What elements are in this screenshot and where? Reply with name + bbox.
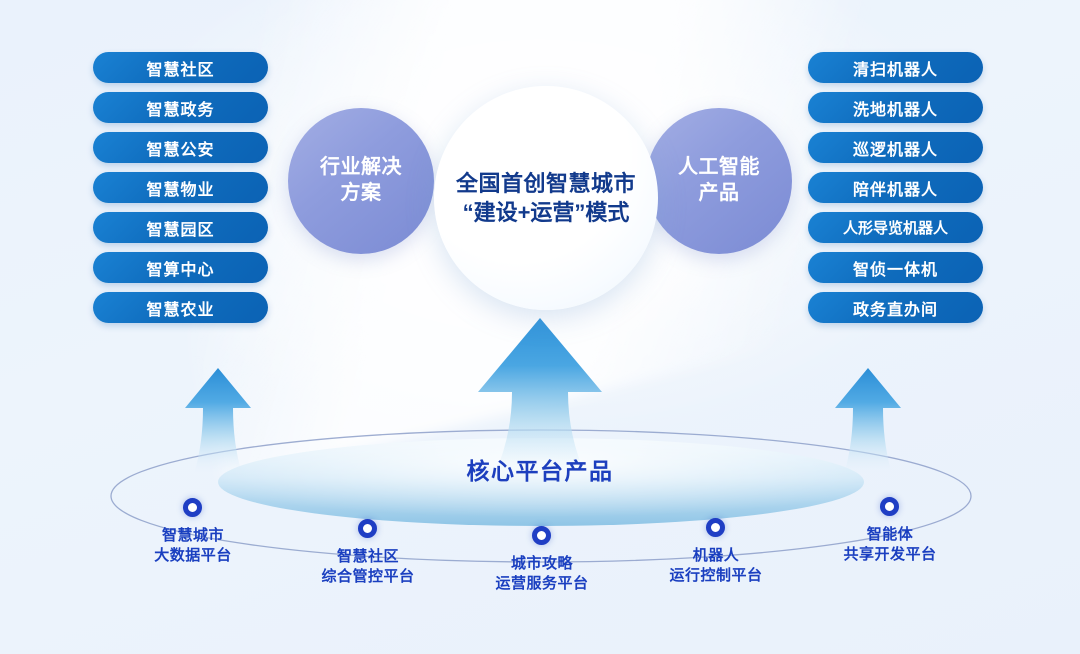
circle-ai-products[interactable]: 人工智能 产品 — [646, 108, 792, 254]
platform-label-3-line1: 城市攻略 — [495, 554, 588, 574]
pill-label: 智慧物业 — [146, 176, 214, 200]
platform-label-4-line1: 机器人 — [669, 546, 762, 566]
platform-node-4[interactable] — [706, 518, 725, 537]
pill-label: 清扫机器人 — [853, 56, 938, 80]
circle-left-line1: 行业解决 — [320, 155, 402, 181]
circle-right-line1: 人工智能 — [678, 155, 760, 181]
pill-left-2[interactable]: 智慧政务 — [93, 92, 268, 123]
pill-right-7[interactable]: 政务直办间 — [808, 292, 983, 323]
pill-left-1[interactable]: 智慧社区 — [93, 52, 268, 83]
pill-label: 智算中心 — [146, 256, 214, 280]
platform-label-1-line1: 智慧城市 — [154, 526, 232, 546]
platform-label-1: 智慧城市 大数据平台 — [154, 526, 232, 567]
platform-node-2[interactable] — [358, 519, 377, 538]
circle-center-line1: 全国首创智慧城市 — [456, 169, 636, 198]
pill-label: 智慧园区 — [146, 216, 214, 240]
pill-label: 巡逻机器人 — [853, 136, 938, 160]
platform-node-5[interactable] — [880, 497, 899, 516]
left-pill-column: 智慧社区 智慧政务 智慧公安 智慧物业 智慧园区 智算中心 智慧农业 — [93, 52, 268, 323]
pill-left-6[interactable]: 智算中心 — [93, 252, 268, 283]
circle-left-line2: 方案 — [341, 181, 382, 207]
pill-left-4[interactable]: 智慧物业 — [93, 172, 268, 203]
pill-right-6[interactable]: 智侦一体机 — [808, 252, 983, 283]
platform-label-5-line2: 共享开发平台 — [843, 545, 936, 565]
platform-label-2-line2: 综合管控平台 — [321, 567, 414, 587]
pill-right-2[interactable]: 洗地机器人 — [808, 92, 983, 123]
platform-node-1[interactable] — [183, 498, 202, 517]
platform-node-3[interactable] — [532, 526, 551, 545]
pill-label: 智慧农业 — [146, 296, 214, 320]
circle-industry-solutions[interactable]: 行业解决 方案 — [288, 108, 434, 254]
platform-label-5: 智能体 共享开发平台 — [843, 525, 936, 566]
platform-label-2: 智慧社区 综合管控平台 — [321, 547, 414, 588]
pill-right-1[interactable]: 清扫机器人 — [808, 52, 983, 83]
pill-label: 智慧政务 — [146, 96, 214, 120]
core-platform-title: 核心平台产品 — [0, 452, 1080, 486]
circle-right-line2: 产品 — [699, 181, 740, 207]
pill-right-3[interactable]: 巡逻机器人 — [808, 132, 983, 163]
platform-label-1-line2: 大数据平台 — [154, 546, 232, 566]
pill-left-5[interactable]: 智慧园区 — [93, 212, 268, 243]
platform-label-3-line2: 运营服务平台 — [495, 574, 588, 594]
pill-label: 智慧社区 — [146, 56, 214, 80]
pill-left-3[interactable]: 智慧公安 — [93, 132, 268, 163]
pill-label: 人形导览机器人 — [843, 217, 948, 238]
platform-label-5-line1: 智能体 — [843, 525, 936, 545]
platform-label-4-line2: 运行控制平台 — [669, 566, 762, 586]
pill-label: 政务直办间 — [853, 296, 938, 320]
platform-label-4: 机器人 运行控制平台 — [669, 546, 762, 587]
pill-label: 洗地机器人 — [853, 96, 938, 120]
pill-right-4[interactable]: 陪伴机器人 — [808, 172, 983, 203]
platform-label-2-line1: 智慧社区 — [321, 547, 414, 567]
pill-label: 智慧公安 — [146, 136, 214, 160]
platform-label-3: 城市攻略 运营服务平台 — [495, 554, 588, 595]
pill-label: 智侦一体机 — [853, 256, 938, 280]
pill-right-5[interactable]: 人形导览机器人 — [808, 212, 983, 243]
pill-label: 陪伴机器人 — [853, 176, 938, 200]
diagram-canvas: 智慧社区 智慧政务 智慧公安 智慧物业 智慧园区 智算中心 智慧农业 清扫机器人… — [0, 0, 1080, 654]
circle-core-model[interactable]: 全国首创智慧城市 “建设+运营”模式 — [434, 86, 658, 310]
circle-center-line2: “建设+运营”模式 — [463, 198, 630, 227]
pill-left-7[interactable]: 智慧农业 — [93, 292, 268, 323]
right-pill-column: 清扫机器人 洗地机器人 巡逻机器人 陪伴机器人 人形导览机器人 智侦一体机 政务… — [808, 52, 983, 323]
